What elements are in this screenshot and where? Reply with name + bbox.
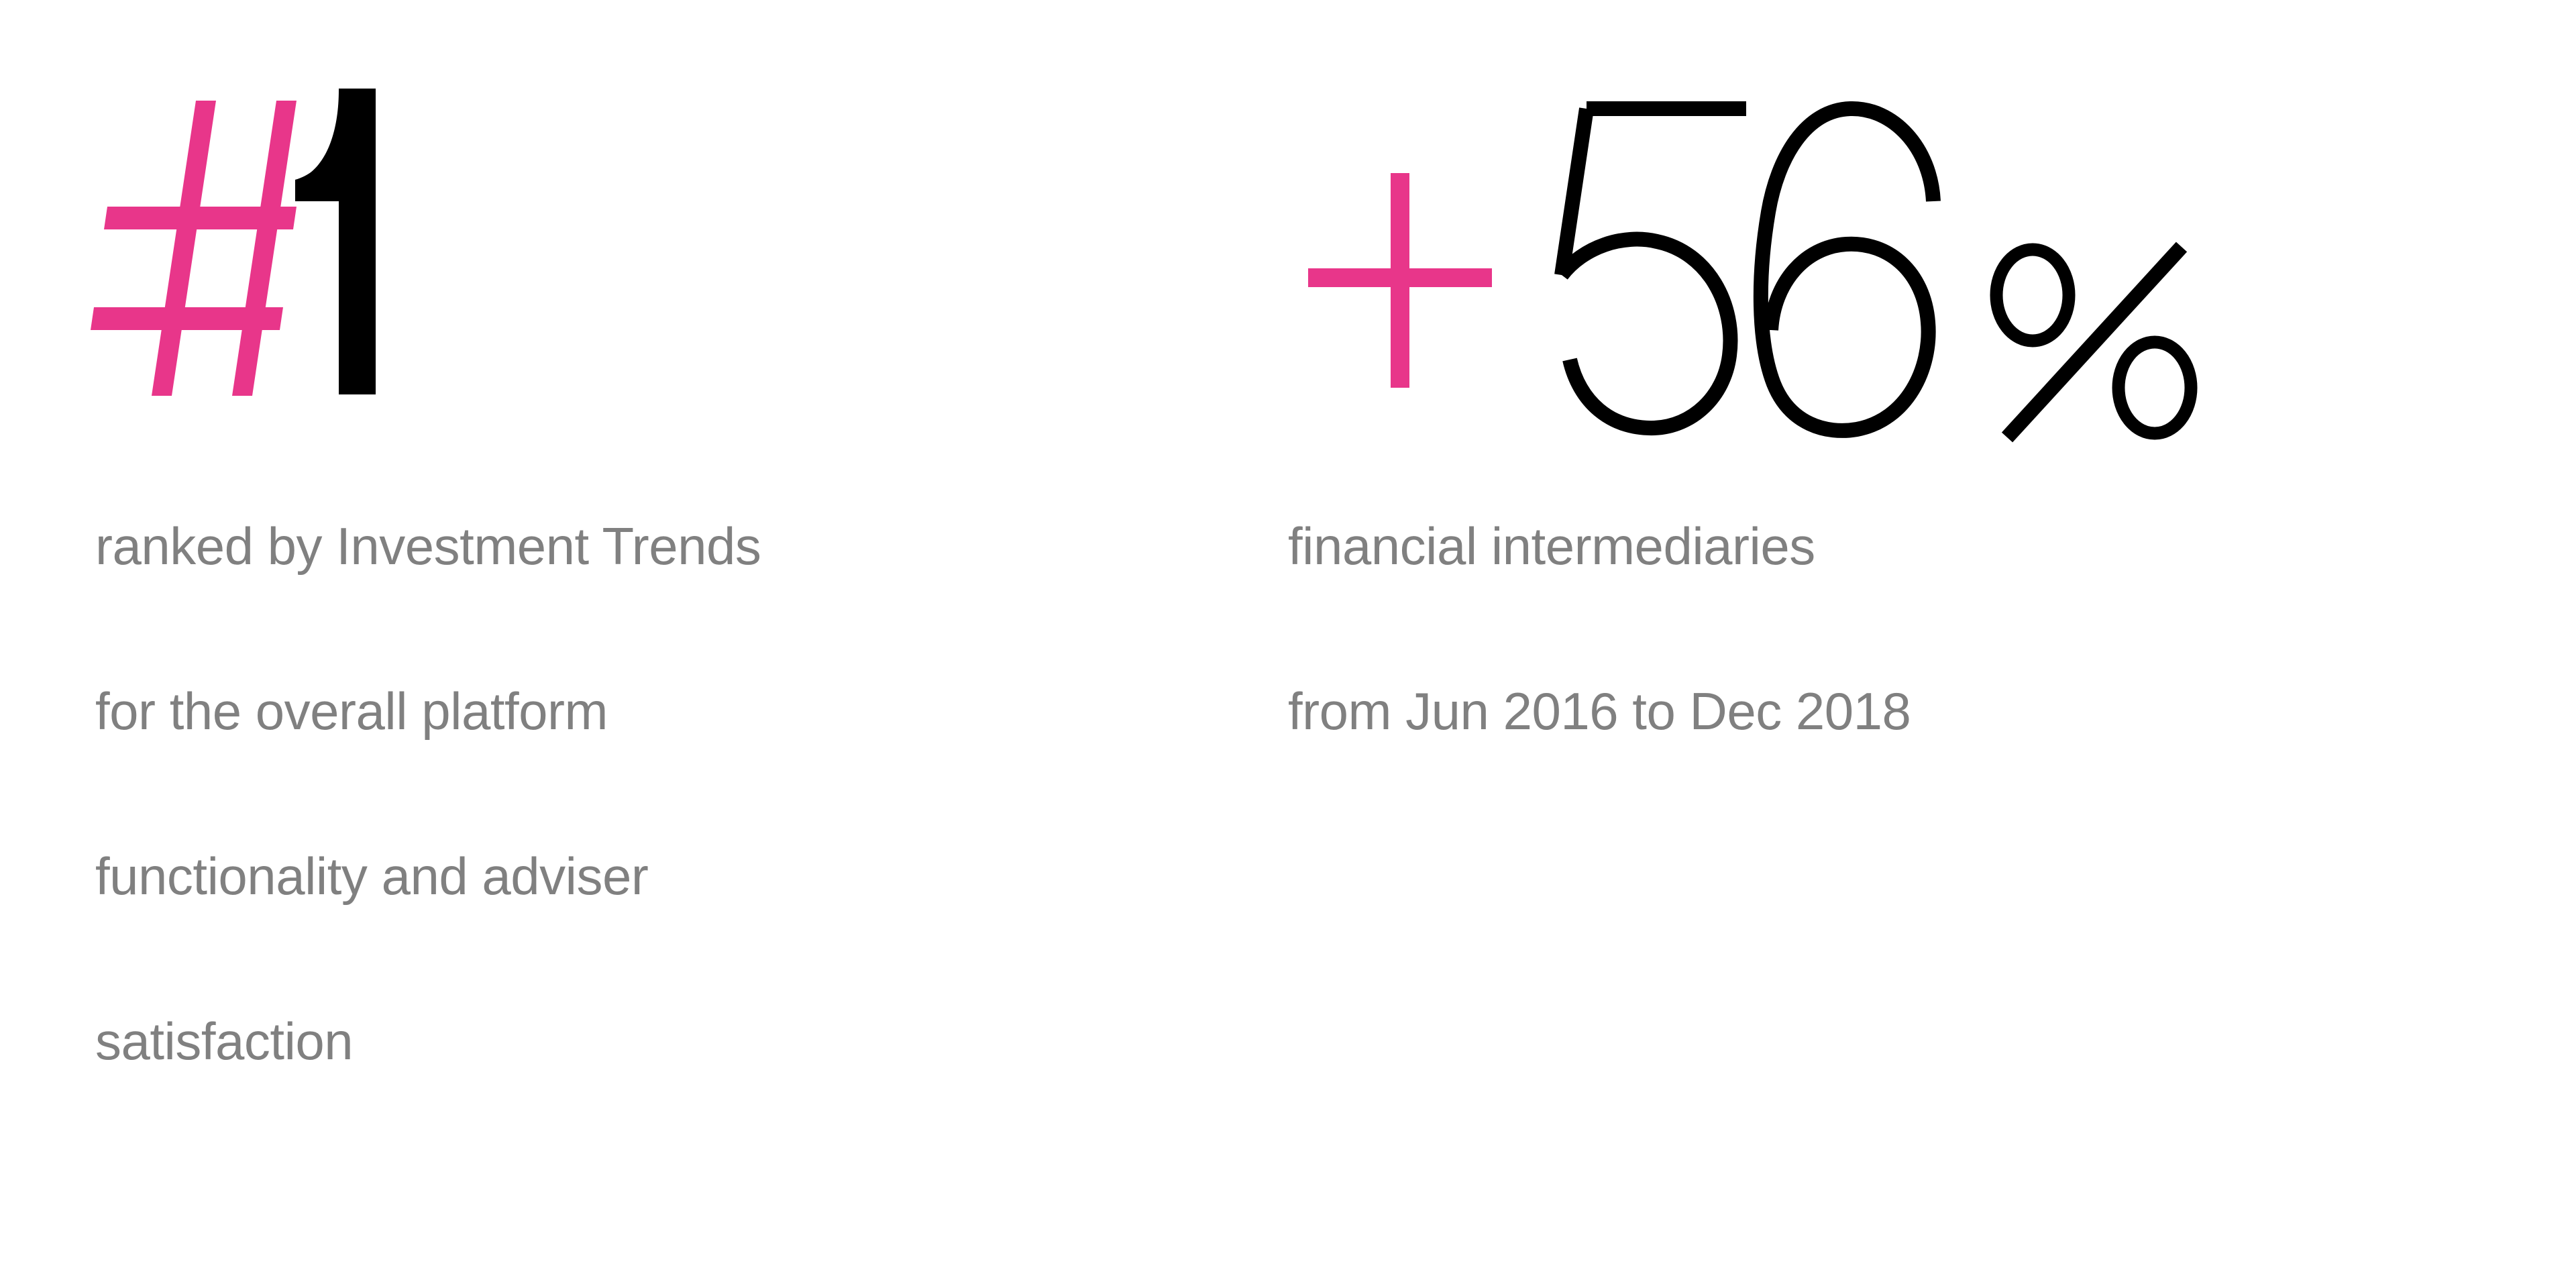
caption-line: for the overall platform — [95, 670, 1008, 753]
stat-figure-rank — [80, 0, 1087, 416]
stat-figure-growth — [1275, 0, 2348, 416]
stat-caption-rank: ranked by Investment Trends for the over… — [95, 423, 1008, 1165]
rank-figure-glyphs — [94, 80, 510, 416]
caption-line: functionality and adviser — [95, 835, 1008, 918]
caption-line: from Jun 2016 to Dec 2018 — [1288, 670, 2294, 753]
percent-glyph — [1996, 247, 2191, 437]
stats-panel: ranked by Investment Trends for the over… — [0, 0, 2576, 1288]
caption-line: ranked by Investment Trends — [95, 505, 1008, 588]
plus-accent-icon — [1308, 173, 1492, 388]
stat-block-rank: ranked by Investment Trends for the over… — [80, 0, 1087, 805]
hash-accent-icon — [91, 101, 297, 396]
numeral-six-glyph — [1761, 109, 1933, 431]
stat-caption-growth: financial intermediaries from Jun 2016 t… — [1288, 423, 2294, 835]
stat-block-growth: financial intermediaries from Jun 2016 t… — [1275, 0, 2348, 805]
growth-figure-glyphs — [1295, 74, 2274, 409]
caption-line: financial intermediaries — [1288, 505, 2294, 588]
caption-line: satisfaction — [95, 1000, 1008, 1083]
numeral-five-glyph — [1562, 109, 1746, 428]
numeral-one-glyph — [295, 89, 376, 394]
